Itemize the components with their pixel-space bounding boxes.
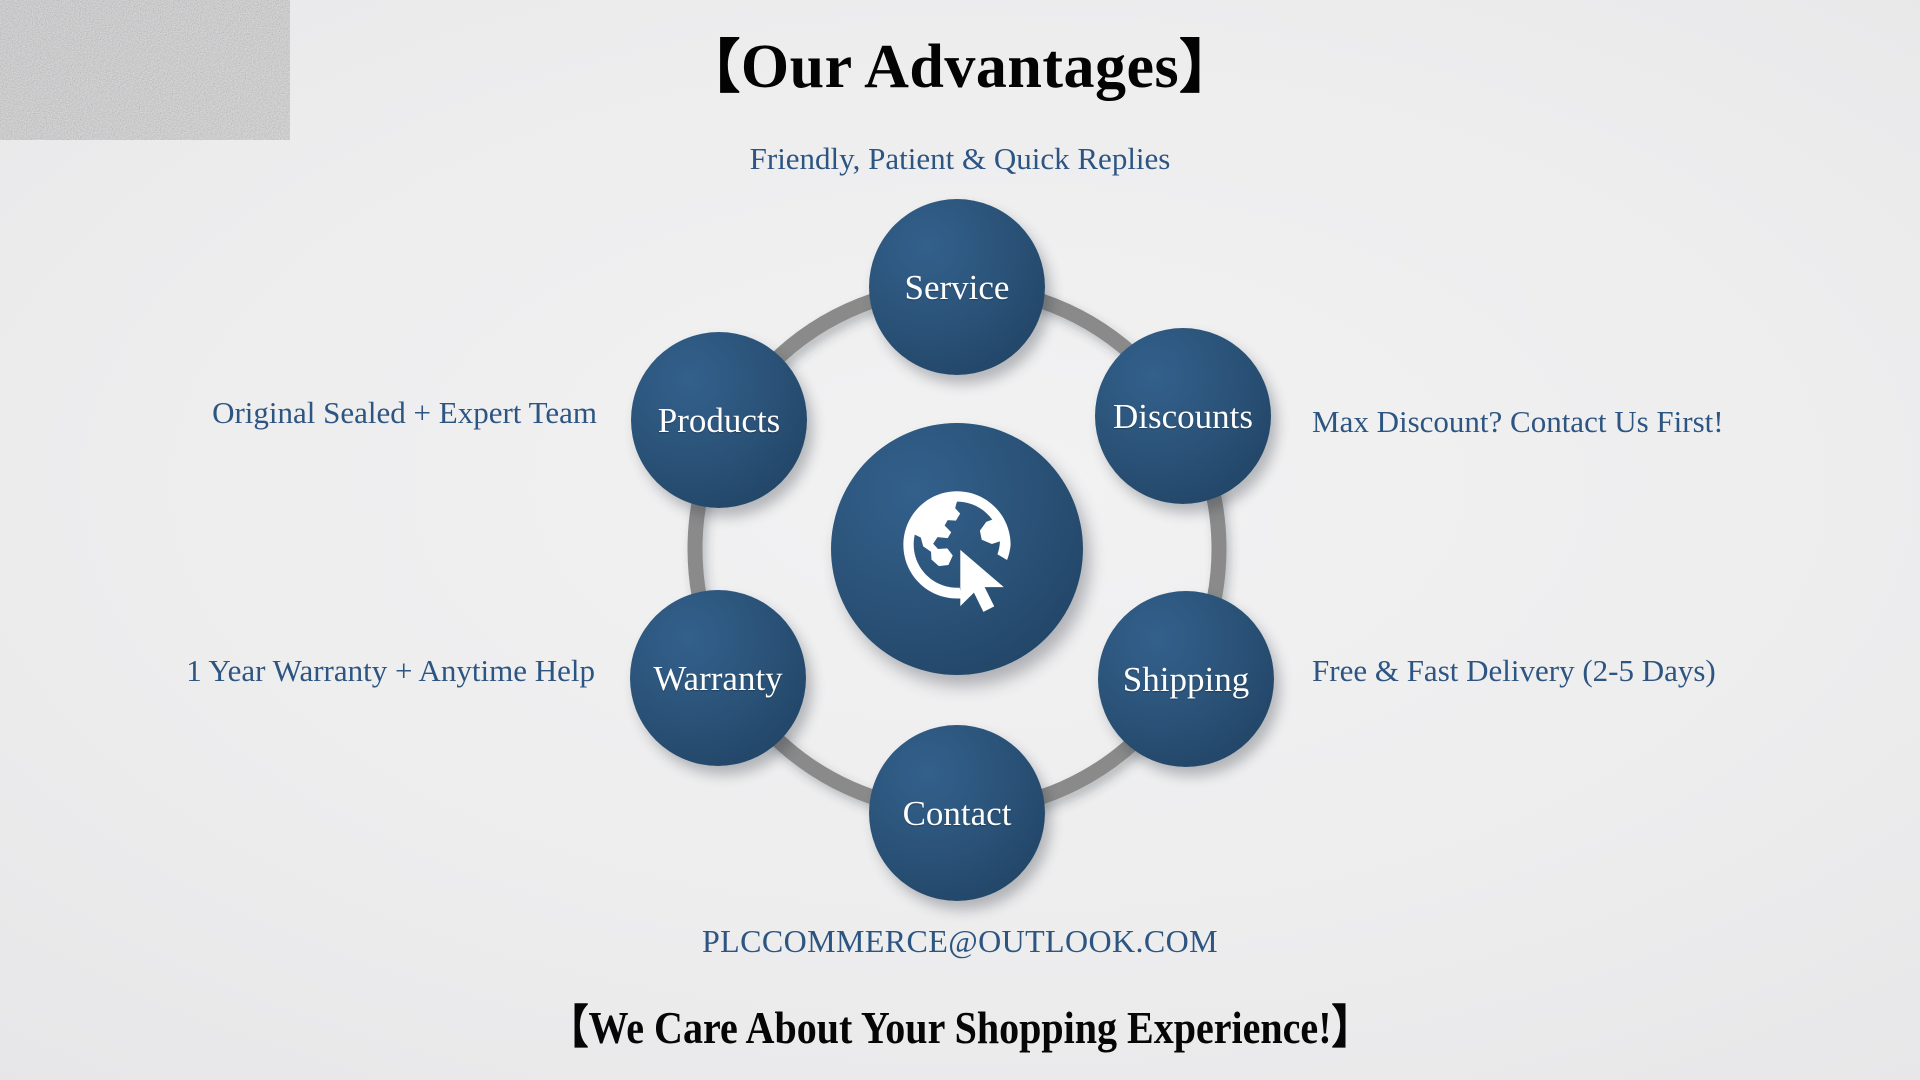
node-discounts-label: Discounts (1113, 399, 1253, 434)
tagline-text: We Care About Your Shopping Experience! (588, 1002, 1331, 1053)
advantages-graphic: 【Our Advantages】 Friendly, Patient & Qui… (0, 0, 1920, 1080)
title-text: Our Advantages (741, 33, 1179, 101)
node-warranty-label: Warranty (653, 661, 782, 696)
caption-products: Original Sealed + Expert Team (212, 397, 597, 428)
node-products[interactable]: Products (631, 332, 807, 508)
node-shipping-label: Shipping (1123, 662, 1249, 697)
tagline-close-bracket: 】 (1332, 1000, 1372, 1054)
node-shipping[interactable]: Shipping (1098, 591, 1274, 767)
caption-warranty: 1 Year Warranty + Anytime Help (186, 655, 595, 686)
tagline-open-bracket: 【 (548, 1000, 588, 1054)
node-warranty[interactable]: Warranty (630, 590, 806, 766)
caption-discounts: Max Discount? Contact Us First! (1312, 406, 1724, 437)
title-close-bracket: 】 (1179, 33, 1238, 101)
title-open-bracket: 【 (682, 33, 741, 101)
node-contact[interactable]: Contact (869, 725, 1045, 901)
node-service-label: Service (905, 270, 1010, 305)
node-discounts[interactable]: Discounts (1095, 328, 1271, 504)
node-products-label: Products (658, 403, 781, 438)
caption-service: Friendly, Patient & Quick Replies (0, 143, 1920, 174)
caption-shipping: Free & Fast Delivery (2-5 Days) (1312, 655, 1716, 686)
page-title: 【Our Advantages】 (0, 36, 1920, 98)
globe-cursor-icon (891, 483, 1023, 615)
hub-node[interactable] (831, 423, 1083, 675)
node-contact-label: Contact (903, 796, 1012, 831)
footer-tagline: 【We Care About Your Shopping Experience!… (125, 1004, 1795, 1051)
contact-email[interactable]: PLCCOMMERCE@OUTLOOK.COM (0, 925, 1920, 957)
node-service[interactable]: Service (869, 199, 1045, 375)
